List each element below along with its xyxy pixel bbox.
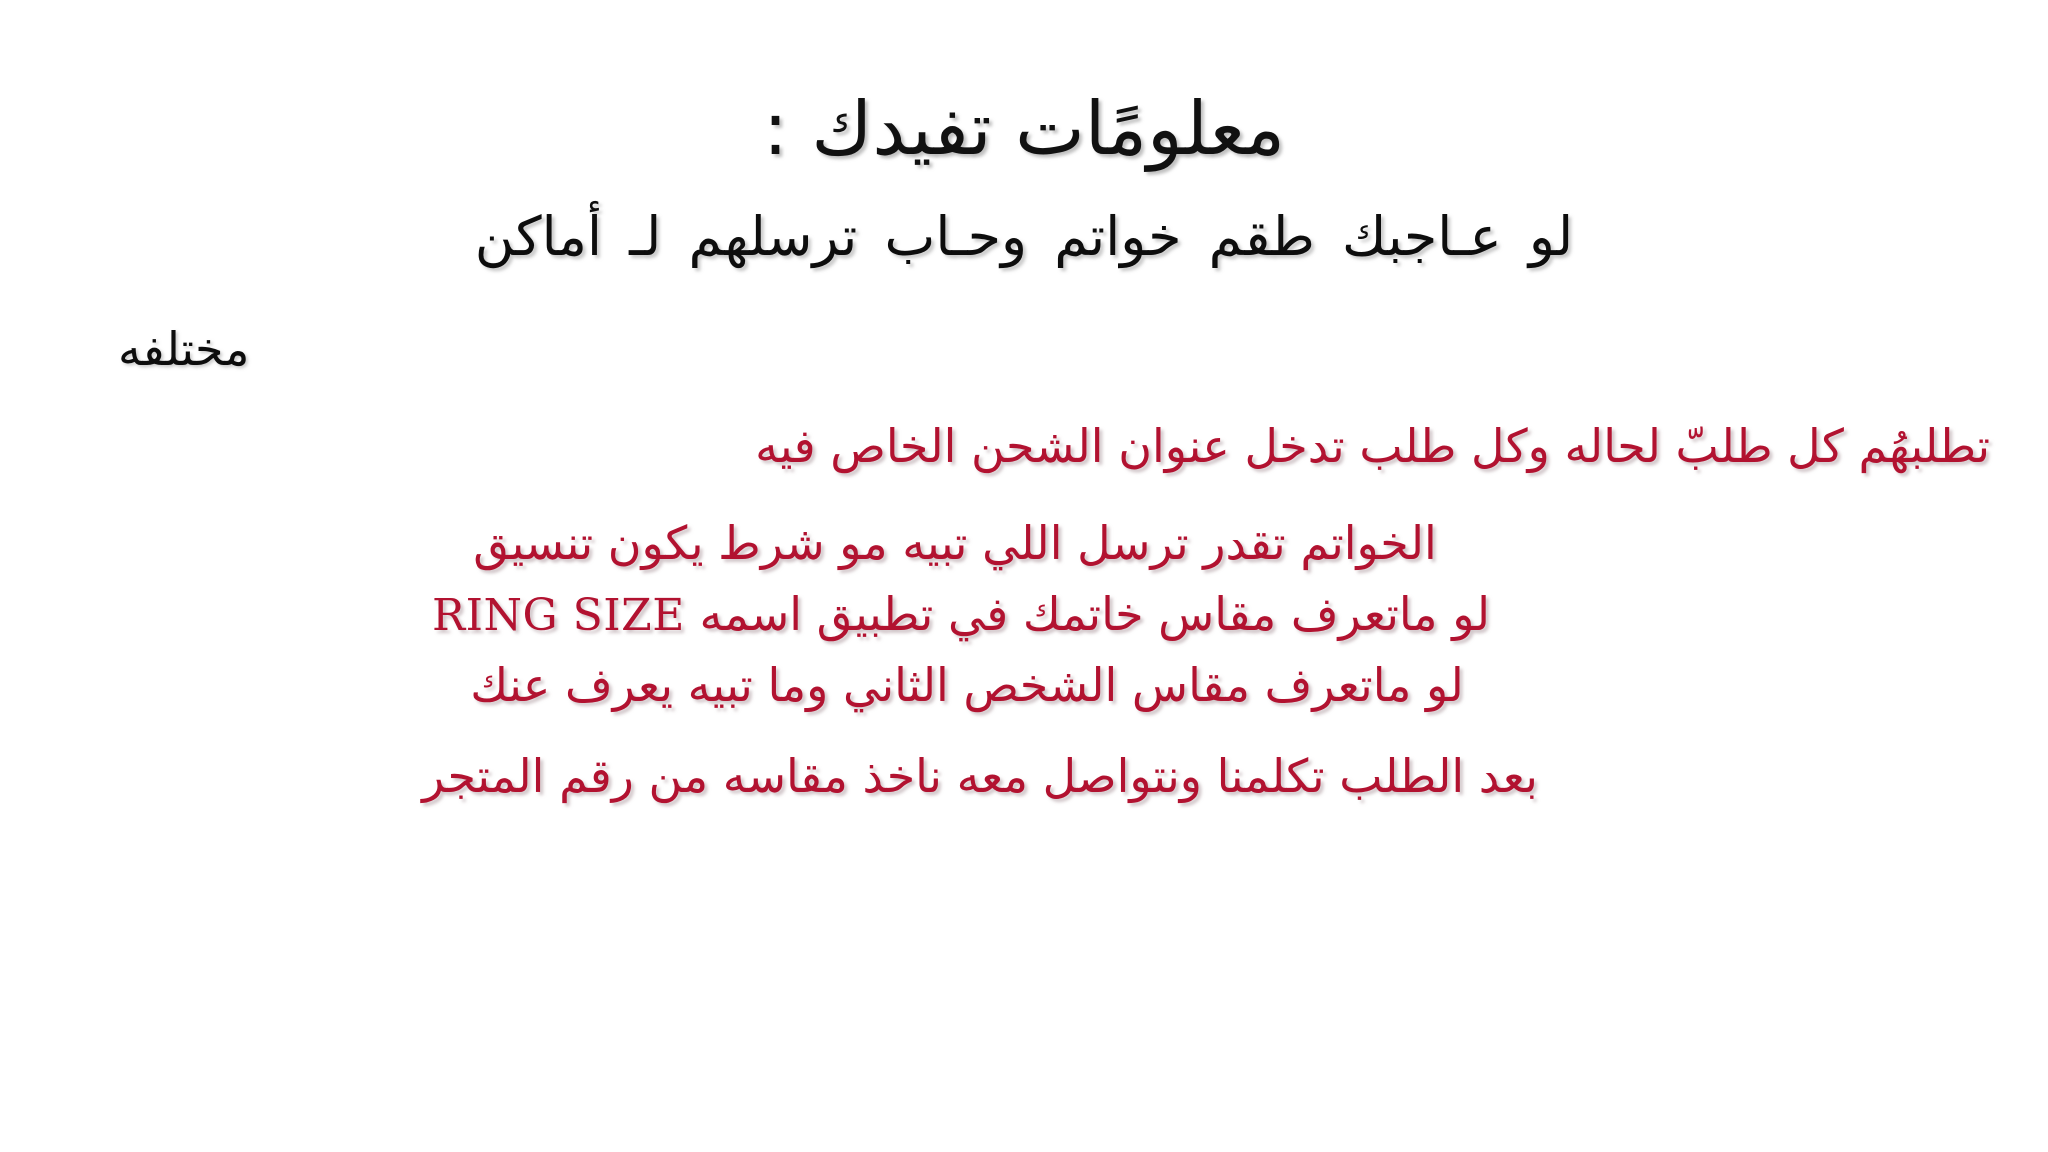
body-line-5: بعد الطلب تكلمنا ونتواصل معه ناخذ مقاسه … — [40, 742, 1920, 811]
overlap-fragment-text: مختلفه — [118, 322, 249, 377]
intro-script-line: لو عـاجبك طقم خواتم وحـاب ترسلهم لـ أماك… — [475, 205, 1573, 270]
body-line-4: لو ماتعرف مقاس الشخص الثاني وما تبيه يعر… — [40, 651, 1894, 720]
page-title: معلومًات تفيدك : — [763, 86, 1285, 173]
body-line-3: لو ماتعرف مقاس خاتمك في تطبيق اسمه RING … — [40, 580, 1882, 649]
script-line-row: لو عـاجبك طقم خواتم وحـاب ترسلهم لـ أماك… — [0, 205, 2048, 270]
body-line-3-text: لو ماتعرف مقاس خاتمك في تطبيق اسمه — [699, 587, 1490, 641]
title-row: معلومًات تفيدك : — [0, 86, 2048, 173]
body-line-1: تطلبهُم كل طلبّ لحاله وكل طلب تدخل عنوان… — [40, 412, 1990, 481]
ring-size-app-name: RING SIZE — [432, 583, 685, 649]
body-text-block: تطلبهُم كل طلبّ لحاله وكل طلب تدخل عنوان… — [40, 412, 1990, 811]
slide-canvas: معلومًات تفيدك : لو عـاجبك طقم خواتم وحـ… — [0, 0, 2048, 1152]
body-line-2: الخواتم تقدر ترسل اللي تبيه مو شرط يكون … — [40, 509, 1870, 578]
